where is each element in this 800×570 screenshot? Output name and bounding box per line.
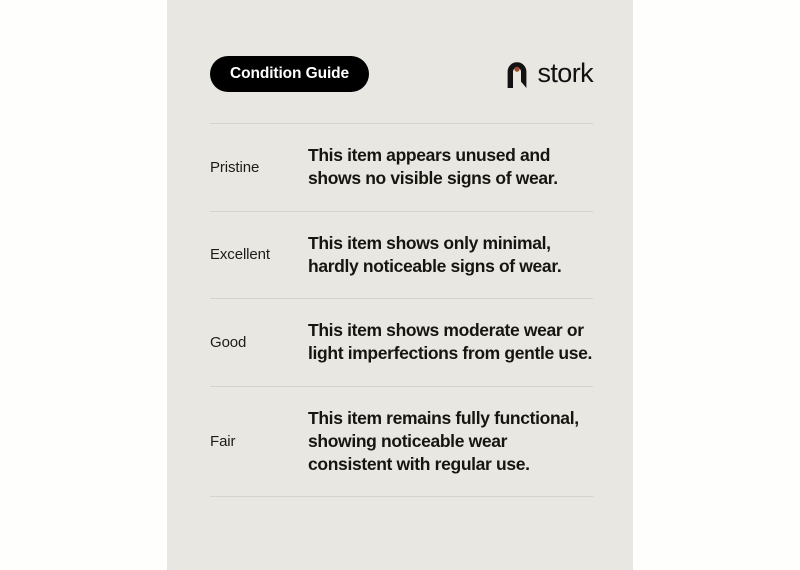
condition-label: Excellent xyxy=(210,245,308,265)
table-row: Good This item shows moderate wear or li… xyxy=(210,299,593,386)
condition-guide-badge[interactable]: Condition Guide xyxy=(210,56,369,92)
condition-label: Good xyxy=(210,333,308,353)
condition-description: This item shows moderate wear or light i… xyxy=(308,319,593,366)
card-header: Condition Guide stork xyxy=(210,55,593,92)
condition-label: Fair xyxy=(210,432,308,452)
stork-arch-logo-icon xyxy=(504,59,530,89)
condition-label: Pristine xyxy=(210,158,308,178)
condition-description: This item shows only minimal, hardly not… xyxy=(308,232,593,279)
stork-wordmark: stork xyxy=(537,60,593,87)
condition-description: This item remains fully functional, show… xyxy=(308,407,593,477)
condition-description: This item appears unused and shows no vi… xyxy=(308,144,593,191)
stork-brand-logo[interactable]: stork xyxy=(504,59,593,89)
table-row: Excellent This item shows only minimal, … xyxy=(210,212,593,299)
table-row: Pristine This item appears unused and sh… xyxy=(210,124,593,211)
divider-bottom xyxy=(210,496,593,497)
condition-guide-table: Pristine This item appears unused and sh… xyxy=(210,123,593,497)
table-row: Fair This item remains fully functional,… xyxy=(210,387,593,497)
condition-guide-card: Condition Guide stork Pristine This item… xyxy=(167,0,633,570)
page-root: Condition Guide stork Pristine This item… xyxy=(0,0,800,570)
